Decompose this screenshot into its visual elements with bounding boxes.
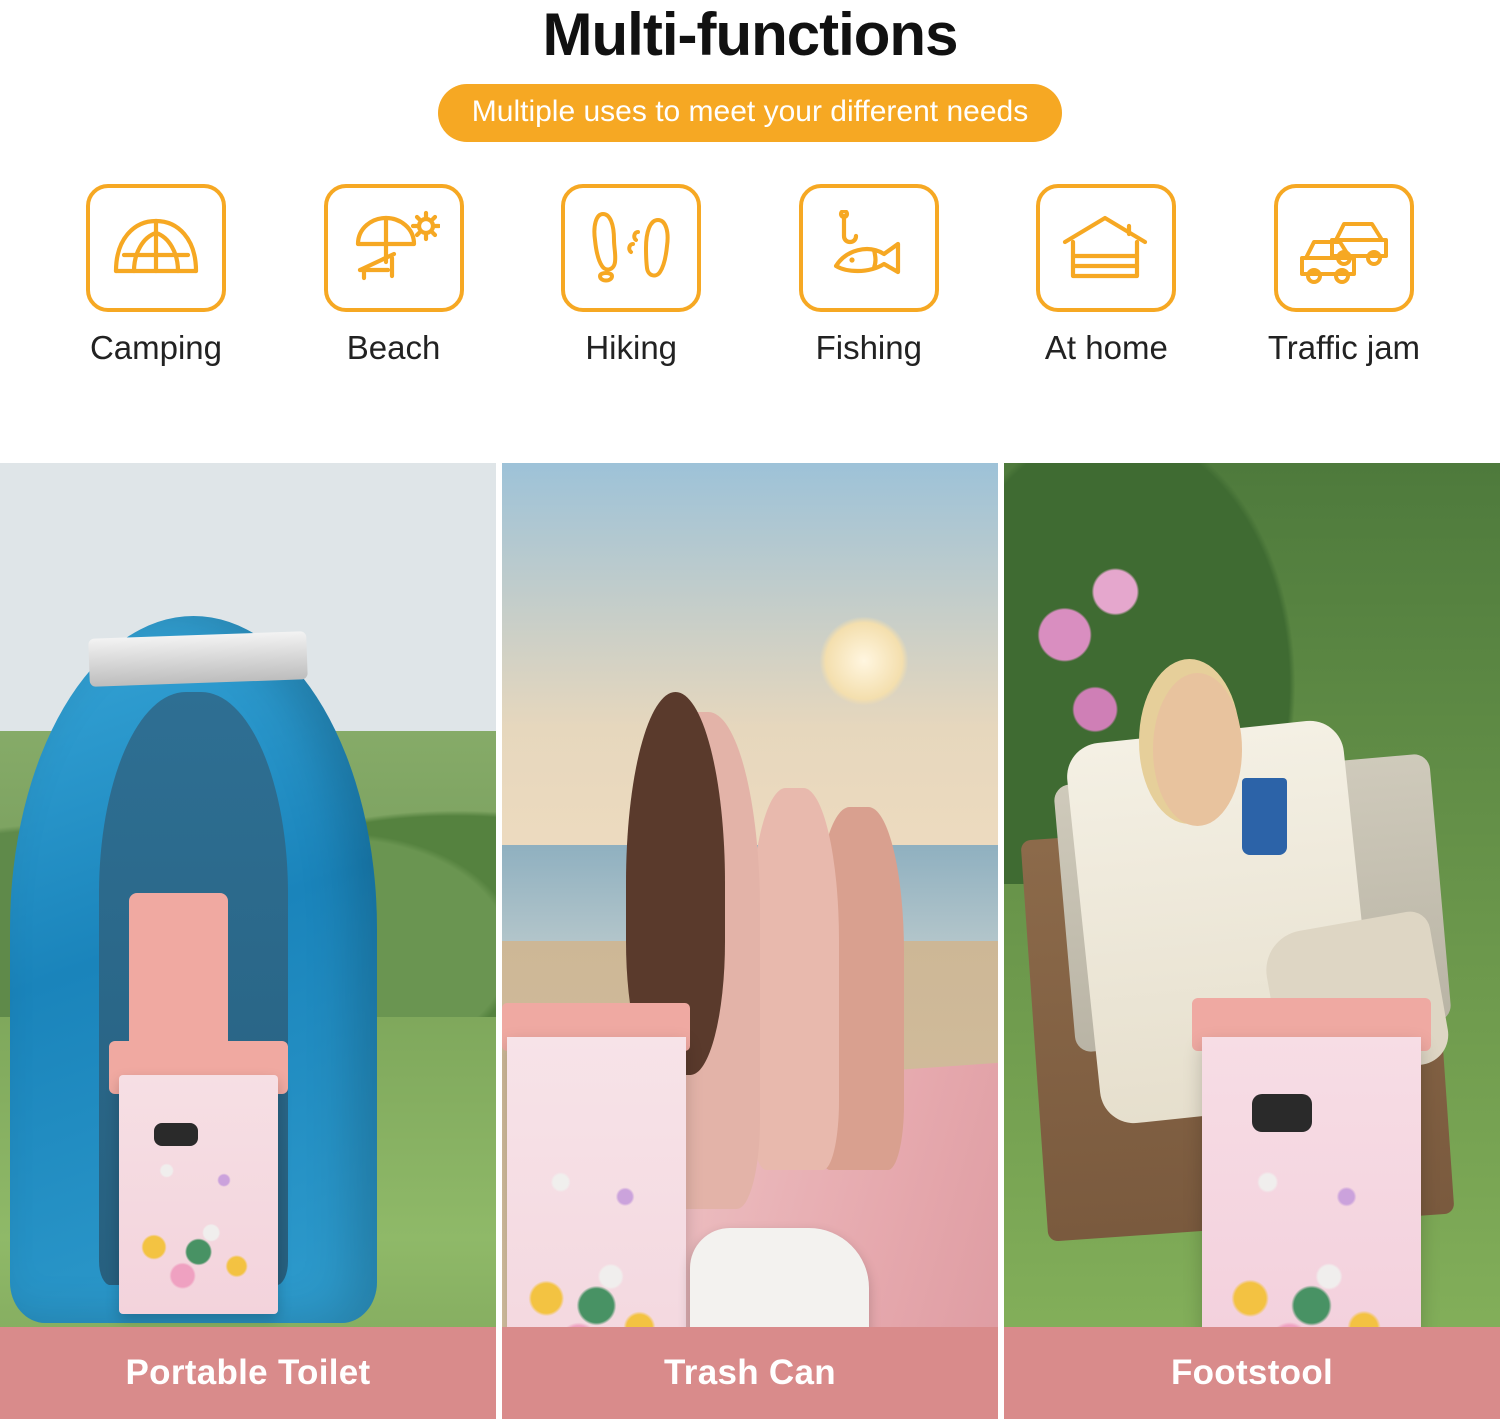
use-case-beach: Beach <box>294 184 494 367</box>
gallery-card-portable-toilet: Portable Toilet <box>0 463 496 1419</box>
gallery-card-footstool: Footstool <box>1004 463 1500 1419</box>
use-case-label: Fishing <box>816 329 922 367</box>
gallery-card-trash-can: Trash Can <box>502 463 998 1419</box>
use-case-at-home: At home <box>1006 184 1206 367</box>
use-case-hiking: Hiking <box>531 184 731 367</box>
card-caption: Portable Toilet <box>0 1327 496 1419</box>
subtitle-badge: Multiple uses to meet your different nee… <box>438 84 1062 142</box>
use-case-label: Hiking <box>585 329 677 367</box>
usage-gallery: Portable Toilet Trash Can <box>0 463 1500 1419</box>
use-case-fishing: Fishing <box>769 184 969 367</box>
beach-umbrella-icon <box>324 184 464 312</box>
use-case-label: Camping <box>90 329 222 367</box>
multi-functions-infographic: Multi-functions Multiple uses to meet yo… <box>0 0 1500 1419</box>
use-case-label: At home <box>1045 329 1168 367</box>
use-case-traffic-jam: Traffic jam <box>1244 184 1444 367</box>
use-case-label: Traffic jam <box>1268 329 1420 367</box>
use-case-camping: Camping <box>56 184 256 367</box>
photo-portable-toilet <box>0 463 496 1419</box>
page-title: Multi-functions <box>0 0 1500 68</box>
cars-icon <box>1274 184 1414 312</box>
card-caption: Trash Can <box>502 1327 998 1419</box>
photo-trash-can <box>502 463 998 1419</box>
tent-icon <box>86 184 226 312</box>
fish-hook-icon <box>799 184 939 312</box>
footprints-icon <box>561 184 701 312</box>
subtitle-container: Multiple uses to meet your different nee… <box>0 84 1500 142</box>
use-case-list: Camping Beach <box>0 142 1500 367</box>
card-caption: Footstool <box>1004 1327 1500 1419</box>
use-case-label: Beach <box>347 329 441 367</box>
house-icon <box>1036 184 1176 312</box>
photo-footstool <box>1004 463 1500 1419</box>
